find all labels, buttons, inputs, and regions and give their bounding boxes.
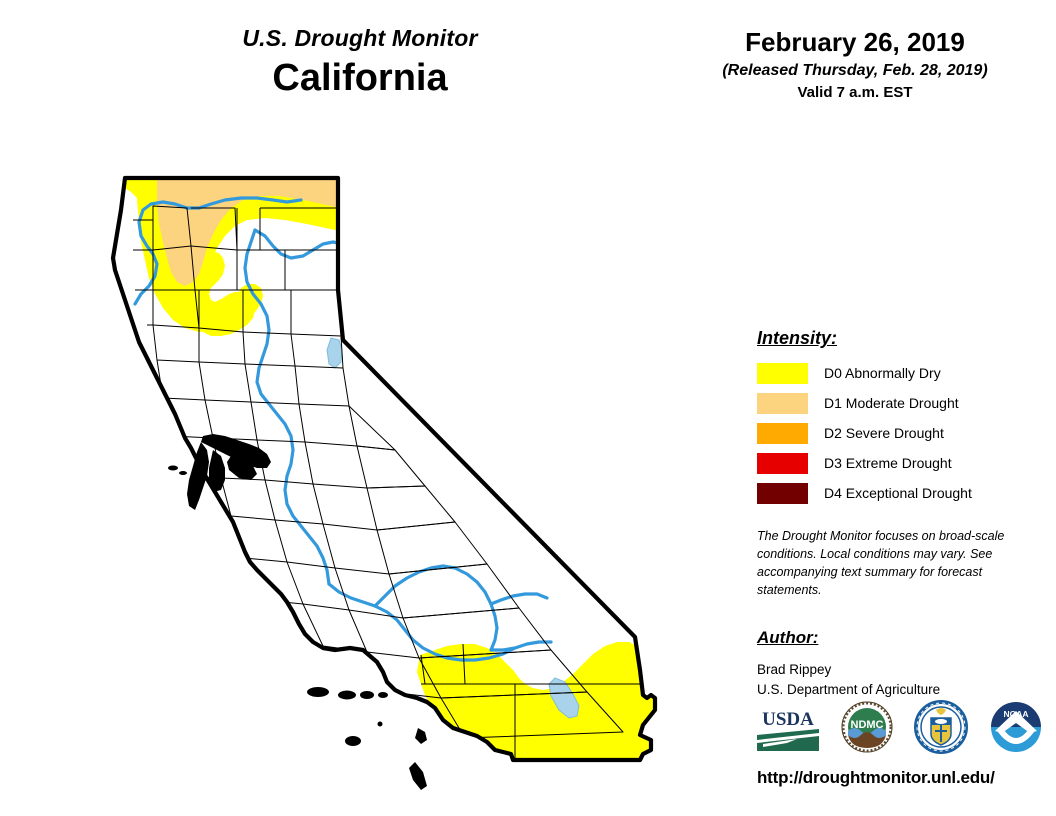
legend-label-d0: D0 Abnormally Dry: [824, 365, 941, 381]
svg-text:NOAA: NOAA: [1003, 709, 1028, 719]
map-base: [95, 150, 695, 810]
channel-islands: [307, 687, 427, 790]
website-url[interactable]: http://droughtmonitor.unl.edu/: [757, 768, 1047, 788]
legend-item-d4: D4 Exceptional Drought: [757, 482, 1027, 504]
legend-item-d0: D0 Abnormally Dry: [757, 362, 1027, 384]
lake-tahoe: [327, 338, 342, 368]
release-date: (Released Thursday, Feb. 28, 2019): [690, 61, 1020, 80]
title-block: U.S. Drought Monitor California: [150, 26, 570, 101]
ndmc-logo: NDMC: [841, 701, 893, 758]
author-name: Brad Rippey: [757, 660, 1037, 680]
state-title: California: [150, 57, 570, 101]
date-block: February 26, 2019 (Released Thursday, Fe…: [690, 28, 1020, 102]
svg-text:USDA: USDA: [762, 709, 814, 730]
author-organization: U.S. Department of Agriculture: [757, 680, 1037, 700]
legend-item-d2: D2 Severe Drought: [757, 422, 1027, 444]
svg-text:NDMC: NDMC: [850, 719, 883, 731]
legend-item-d3: D3 Extreme Drought: [757, 452, 1027, 474]
legend-label-d4: D4 Exceptional Drought: [824, 485, 972, 501]
page-title: U.S. Drought Monitor: [150, 26, 570, 51]
legend-swatch-d1: [757, 393, 808, 414]
legend-title: Intensity:: [757, 328, 1027, 349]
valid-time: Valid 7 a.m. EST: [690, 84, 1020, 102]
unl-logo: [914, 700, 968, 759]
offshore-rocks: [168, 466, 187, 476]
legend: Intensity: D0 Abnormally Dry D1 Moderate…: [757, 328, 1027, 512]
author-title: Author:: [757, 628, 1037, 648]
disclaimer-text: The Drought Monitor focuses on broad-sca…: [757, 527, 1012, 600]
usda-logo: USDA: [757, 703, 819, 756]
legend-label-d1: D1 Moderate Drought: [824, 395, 959, 411]
noaa-logo: NOAA: [990, 701, 1042, 758]
logo-row: USDA NDMC: [757, 700, 1042, 758]
legend-swatch-d2: [757, 423, 808, 444]
author-block: Author: Brad Rippey U.S. Department of A…: [757, 628, 1037, 701]
legend-item-d1: D1 Moderate Drought: [757, 392, 1027, 414]
legend-label-d3: D3 Extreme Drought: [824, 455, 952, 471]
legend-swatch-d4: [757, 483, 808, 504]
drought-monitor-page: U.S. Drought Monitor California February…: [0, 0, 1056, 816]
legend-swatch-d3: [757, 453, 808, 474]
legend-label-d2: D2 Severe Drought: [824, 425, 944, 441]
valid-date: February 26, 2019: [690, 28, 1020, 58]
california-drought-map: [95, 150, 695, 810]
legend-swatch-d0: [757, 363, 808, 384]
